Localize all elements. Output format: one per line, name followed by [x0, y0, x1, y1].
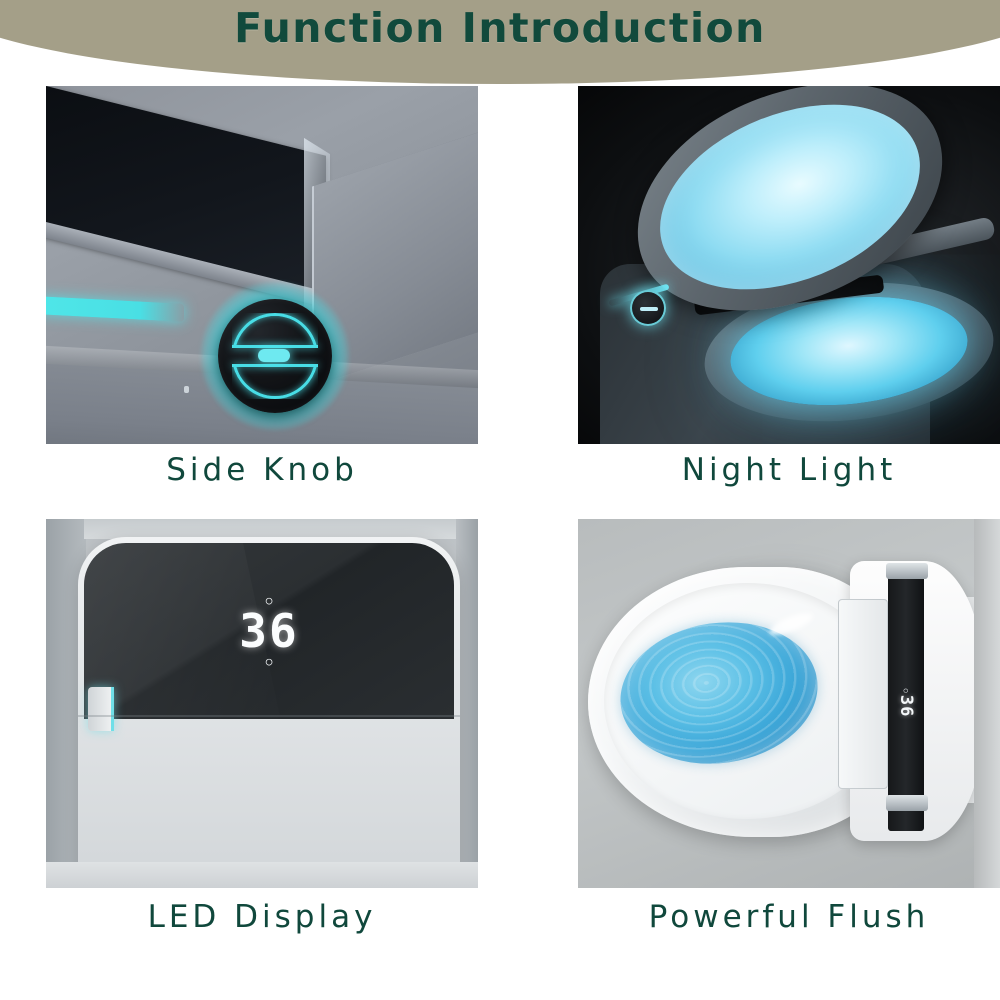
knob-center-bar-icon	[258, 349, 290, 362]
hinge-bottom	[886, 795, 928, 811]
water-swirl-texture	[611, 610, 827, 776]
knob-center-bar-icon	[640, 307, 658, 311]
caption-powerful-flush: Powerful Flush	[578, 899, 1000, 935]
page-root: Function Introduction	[0, 0, 1000, 1000]
knob-slit-top-icon	[232, 345, 318, 348]
led-display-photo: ○ 36 ○	[46, 519, 478, 888]
caption-led-display: LED Display	[46, 899, 478, 935]
knob-slit-bottom-icon	[232, 364, 318, 367]
powerful-flush-scene: ○ 36	[578, 519, 1000, 888]
feature-card-powerful-flush: ○ 36 Powerful Flush	[578, 519, 1000, 949]
side-knob-scene	[46, 86, 478, 444]
feature-card-night-light: Night Light	[578, 86, 1000, 486]
flush-water-pool	[611, 610, 827, 776]
hinge-top	[886, 563, 928, 579]
night-light-photo	[578, 86, 1000, 444]
side-button-control[interactable]	[88, 687, 114, 731]
floor-strip	[46, 862, 478, 888]
top-shelf-strip	[84, 519, 456, 539]
caption-side-knob: Side Knob	[46, 452, 478, 488]
toilet-front-unit: ○ 36 ○	[78, 537, 460, 888]
powerful-flush-photo: ○ 36	[578, 519, 1000, 888]
feature-card-side-knob: Side Knob	[46, 86, 478, 486]
side-knob-control[interactable]	[218, 299, 332, 413]
page-title: Function Introduction	[0, 4, 1000, 52]
header-banner: Function Introduction	[0, 0, 1000, 84]
led-readout: ○ 36 ○	[84, 595, 454, 667]
seat-cover-plate	[838, 599, 888, 789]
cyan-light-strip-icon	[46, 296, 184, 322]
degree-symbol-icon: ○	[902, 689, 910, 693]
flush-led-readout: ○ 36	[884, 681, 928, 725]
background-corner	[974, 519, 1000, 888]
sensor-dot-icon	[184, 386, 189, 393]
degree-symbol-bottom-icon: ○	[84, 656, 454, 667]
led-screen-panel: ○ 36 ○	[84, 543, 454, 719]
feature-card-led-display: ○ 36 ○ LED Display	[46, 519, 478, 949]
led-temperature-value: 36	[84, 606, 454, 656]
night-light-scene	[578, 86, 1000, 444]
unit-seam-line	[78, 715, 460, 717]
caption-night-light: Night Light	[578, 452, 1000, 488]
led-display-scene: ○ 36 ○	[46, 519, 478, 888]
flush-temperature-value: 36	[898, 695, 915, 717]
side-knob-photo	[46, 86, 478, 444]
side-knob-control-night[interactable]	[630, 290, 666, 326]
